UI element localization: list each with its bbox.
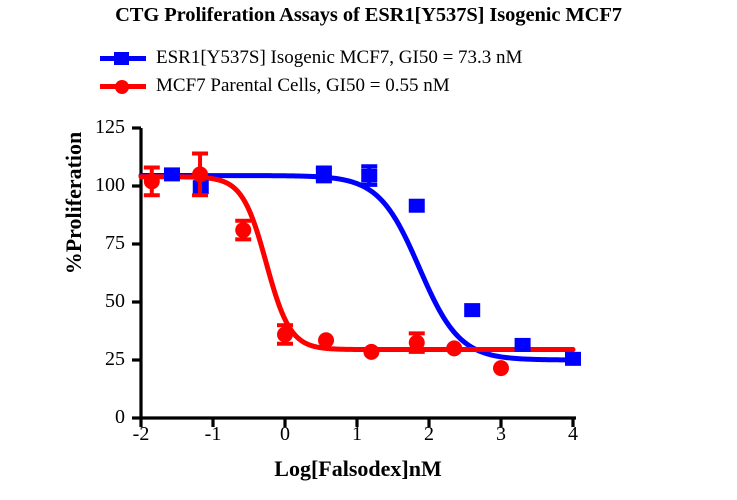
chart-figure: CTG Proliferation Assays of ESR1[Y537S] … bbox=[0, 0, 737, 500]
fit-curve-parental bbox=[141, 177, 573, 350]
data-point-esr1 bbox=[464, 303, 480, 317]
data-point-esr1 bbox=[409, 199, 425, 213]
data-series-layer bbox=[141, 154, 581, 377]
data-point-esr1 bbox=[361, 169, 377, 183]
data-point-parental bbox=[235, 222, 251, 238]
fit-curve-esr1 bbox=[141, 176, 573, 360]
data-point-parental bbox=[144, 173, 160, 189]
data-point-esr1 bbox=[515, 338, 531, 352]
data-point-esr1 bbox=[565, 352, 581, 366]
data-point-esr1 bbox=[164, 167, 180, 181]
data-point-parental bbox=[318, 332, 334, 348]
data-point-parental bbox=[493, 360, 509, 376]
data-point-parental bbox=[409, 335, 425, 351]
data-point-parental bbox=[446, 340, 462, 356]
data-point-parental bbox=[192, 166, 208, 182]
data-point-esr1 bbox=[316, 167, 332, 181]
data-point-parental bbox=[277, 326, 293, 342]
plot-area bbox=[0, 0, 737, 500]
data-point-parental bbox=[363, 344, 379, 360]
